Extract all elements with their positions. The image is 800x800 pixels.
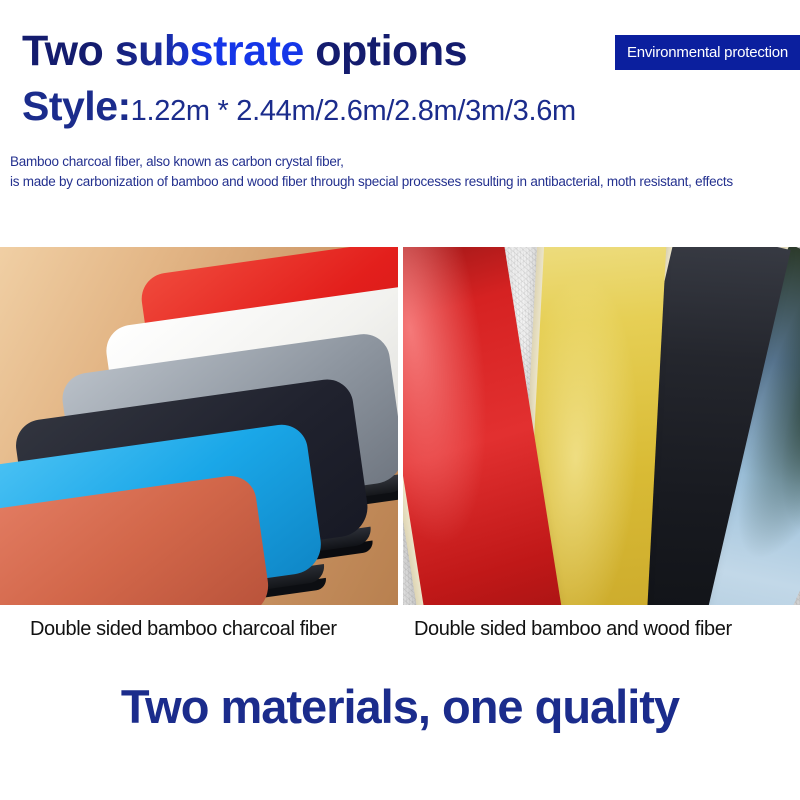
caption-bamboo-charcoal-fiber: Double sided bamboo charcoal fiber [30,618,337,641]
product-photo-row [0,247,800,605]
page-title: Two substrate options [22,30,467,73]
environmental-protection-badge-label: Environmental protection [627,44,788,61]
page-title-prefix: Two [22,27,115,75]
product-photo-bamboo-wood-fiber [403,247,800,605]
environmental-protection-badge: Environmental protection [615,35,800,70]
description-line-1: Bamboo charcoal fiber, also known as car… [10,152,800,172]
description-line-2: is made by carbonization of bamboo and w… [10,172,800,192]
style-value: 1.22m * 2.44m/2.6m/2.8m/3m/3.6m [131,97,576,126]
caption-bamboo-wood-fiber: Double sided bamboo and wood fiber [414,618,732,641]
style-spec-row: Style: 1.22m * 2.44m/2.6m/2.8m/3m/3.6m [22,86,576,127]
product-description: Bamboo charcoal fiber, also known as car… [10,152,800,192]
page-title-suffix: options [304,27,467,75]
footer-slogan: Two materials, one quality [0,683,800,730]
style-label: Style: [22,86,131,127]
photo-captions: Double sided bamboo charcoal fiber Doubl… [0,618,800,656]
header: Two substrate options Style: 1.22m * 2.4… [0,0,800,145]
page-title-highlight: substrate [115,27,304,75]
product-photo-bamboo-charcoal-fiber [0,247,398,605]
